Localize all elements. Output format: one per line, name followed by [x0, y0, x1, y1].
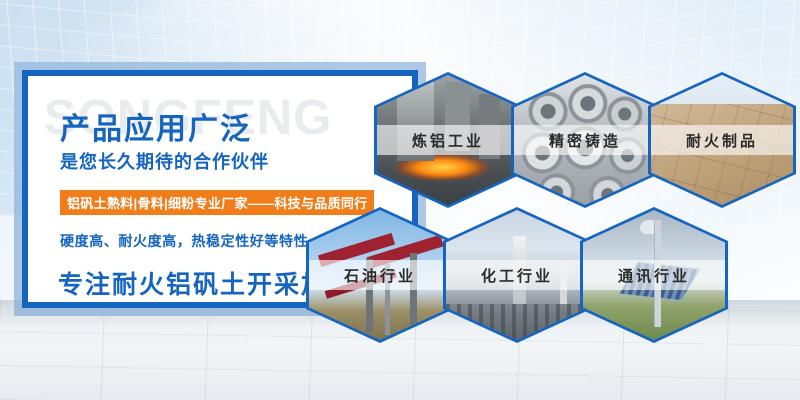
feature-text: 硬度高、耐火度高，热稳定性好等特性	[60, 231, 308, 251]
page-title: 产品应用广泛	[60, 104, 252, 148]
hex-tile-refractory-products[interactable]: 耐火制品	[648, 72, 796, 208]
hex-label: 通讯行业	[583, 260, 725, 290]
hex-clip: 炼铝工业	[377, 75, 519, 205]
hex-clip: 耐火制品	[651, 75, 793, 205]
hex-tile-petroleum-industry[interactable]: 石油行业	[306, 207, 454, 343]
banner-stage: SONGFENG 产品应用广泛 是您长久期待的合作伙伴 铝矾土熟料|骨料|细粉专…	[0, 0, 800, 400]
hex-clip: 石油行业	[309, 210, 451, 340]
hex-clip: 精密铸造	[514, 75, 656, 205]
hex-label: 石油行业	[309, 260, 451, 290]
hex-label: 耐火制品	[651, 125, 793, 155]
hex-label: 炼铝工业	[377, 125, 519, 155]
hex-tile-telecom-industry[interactable]: 通讯行业	[580, 207, 728, 343]
hex-tile-chemical-industry[interactable]: 化工行业	[443, 207, 591, 343]
hex-tile-aluminum-smelting[interactable]: 炼铝工业	[374, 72, 522, 208]
camera-icon	[640, 220, 660, 234]
hex-label: 化工行业	[446, 260, 588, 290]
hex-label: 精密铸造	[514, 125, 656, 155]
hex-clip: 通讯行业	[583, 210, 725, 340]
subtitle: 是您长久期待的合作伙伴	[60, 148, 269, 174]
hex-clip: 化工行业	[446, 210, 588, 340]
hex-tile-precision-casting[interactable]: 精密铸造	[511, 72, 659, 208]
